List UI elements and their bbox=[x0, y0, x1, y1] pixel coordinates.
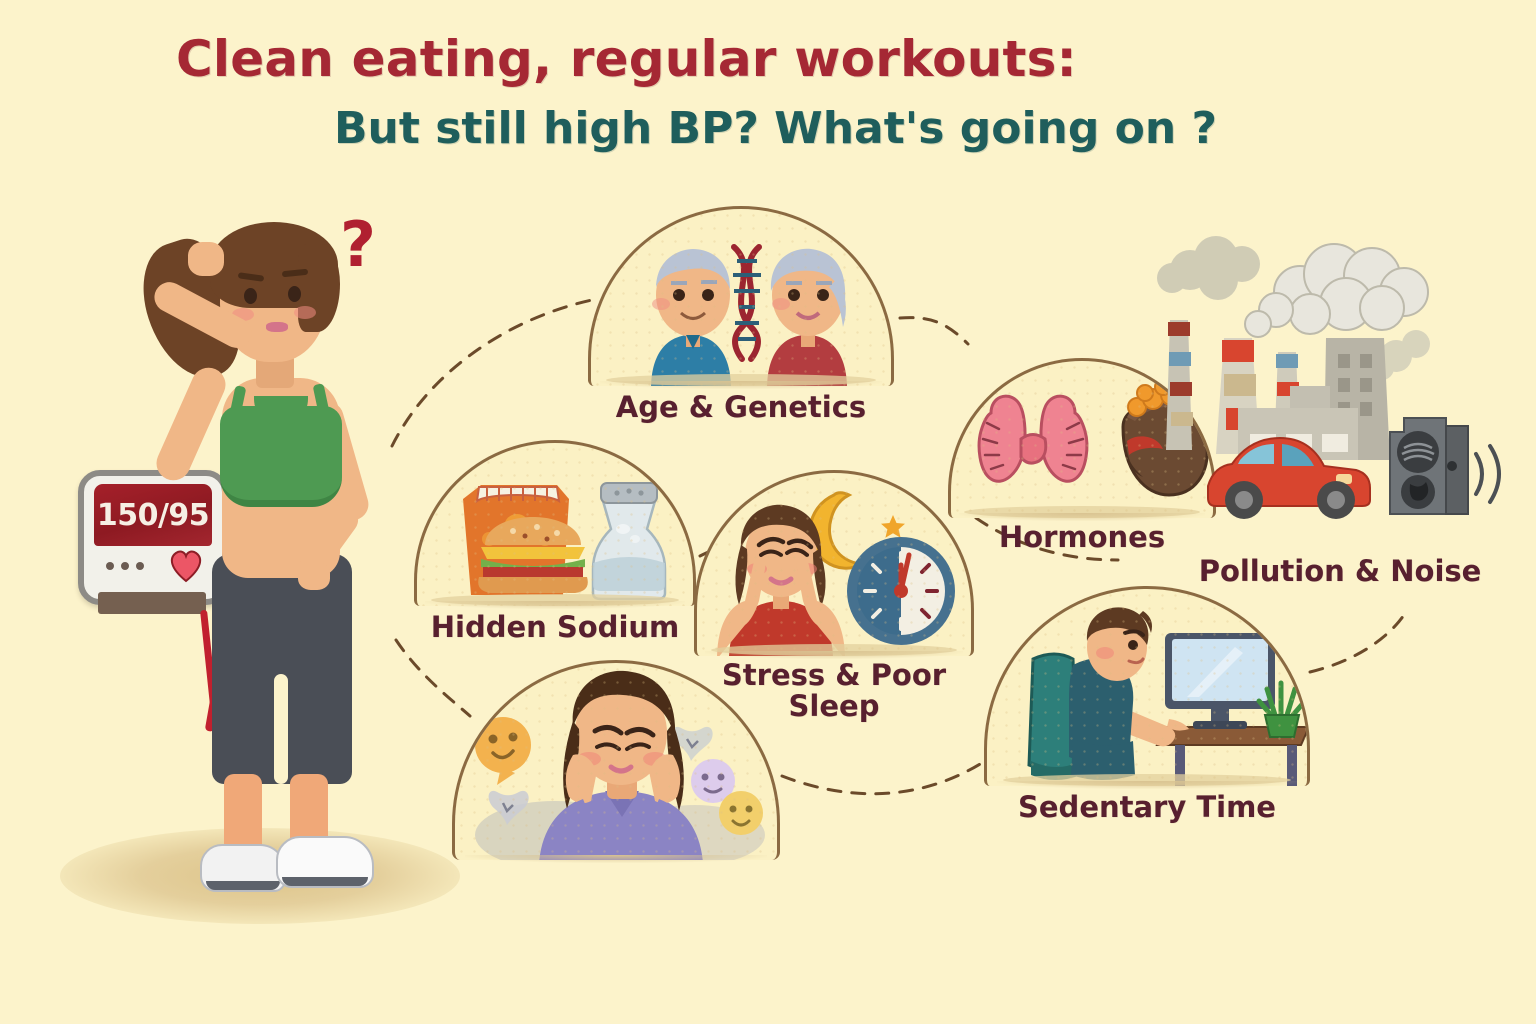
elderly-man-icon bbox=[651, 249, 731, 386]
monitor-status-dots bbox=[106, 562, 144, 570]
star-icon bbox=[881, 515, 905, 538]
smoke-cloud-icon bbox=[1157, 236, 1260, 300]
alarm-clock-icon bbox=[847, 537, 955, 645]
emoji-face-icon bbox=[719, 791, 763, 835]
bubble-pollution-noise: Pollution & Noise bbox=[1150, 236, 1530, 566]
arch-base-shadow bbox=[997, 781, 1297, 789]
bubble-stress-poor-sleep: Stress & Poor Sleep bbox=[694, 470, 974, 656]
arch-frame bbox=[452, 660, 780, 860]
right-hand-on-hip bbox=[298, 562, 330, 590]
loudspeaker-icon bbox=[1390, 418, 1468, 514]
arch-frame bbox=[694, 470, 974, 656]
bubble-scene bbox=[455, 663, 777, 860]
smoke-cloud-icon bbox=[1245, 244, 1428, 337]
bubble-emotional-strain bbox=[452, 660, 780, 860]
right-eye bbox=[288, 286, 301, 302]
arch-base-shadow bbox=[425, 601, 684, 609]
smokestack-icon bbox=[1166, 320, 1193, 450]
title-block: Clean eating, regular workouts: But stil… bbox=[0, 34, 1400, 152]
thyroid-gland-icon bbox=[979, 396, 1087, 481]
bubble-label-pollution-noise: Pollution & Noise bbox=[1150, 556, 1530, 587]
arch-frame bbox=[984, 586, 1310, 786]
infographic-canvas: Clean eating, regular workouts: But stil… bbox=[0, 0, 1536, 1024]
right-blush bbox=[294, 306, 316, 319]
arch-base-shadow bbox=[465, 855, 767, 863]
sound-wave-icon bbox=[1476, 446, 1499, 502]
bubble-label-hidden-sodium: Hidden Sodium bbox=[414, 612, 696, 643]
sports-bra bbox=[220, 406, 342, 507]
left-arm bbox=[151, 362, 231, 485]
bubble-scene bbox=[1150, 236, 1530, 566]
burger-icon bbox=[478, 517, 588, 593]
bubble-age-genetics: Age & Genetics bbox=[588, 206, 894, 386]
title-line-2: But still high BP? What's going on ? bbox=[0, 107, 1400, 152]
arch-frame bbox=[588, 206, 894, 386]
sad-woman-icon bbox=[539, 671, 703, 860]
leggings bbox=[212, 554, 352, 784]
title-line-1: Clean eating, regular workouts: bbox=[0, 34, 1400, 85]
confused-woman-athlete bbox=[148, 214, 408, 874]
right-sneaker bbox=[276, 836, 374, 888]
bubble-scene bbox=[697, 473, 971, 656]
desktop-monitor-icon bbox=[1165, 633, 1275, 729]
elderly-woman-icon bbox=[767, 249, 847, 386]
bubble-scene bbox=[591, 209, 891, 386]
bubble-scene bbox=[417, 443, 693, 606]
bubble-scene bbox=[987, 589, 1307, 786]
left-eye bbox=[244, 288, 257, 304]
dna-helix-icon bbox=[734, 247, 759, 359]
bubble-sedentary-time: Sedentary Time bbox=[984, 586, 1310, 786]
bubble-label-age-genetics: Age & Genetics bbox=[588, 392, 894, 423]
salt-shaker-icon bbox=[593, 483, 665, 599]
bubble-hidden-sodium: Hidden Sodium bbox=[414, 440, 696, 606]
arch-base-shadow bbox=[600, 381, 882, 389]
left-hand-scratching-head bbox=[188, 242, 224, 276]
bubble-label-sedentary-time: Sedentary Time bbox=[984, 792, 1310, 823]
mouth bbox=[266, 322, 288, 332]
emoji-bubble-icon bbox=[475, 717, 531, 785]
left-sneaker bbox=[200, 844, 286, 892]
arch-frame bbox=[414, 440, 696, 606]
